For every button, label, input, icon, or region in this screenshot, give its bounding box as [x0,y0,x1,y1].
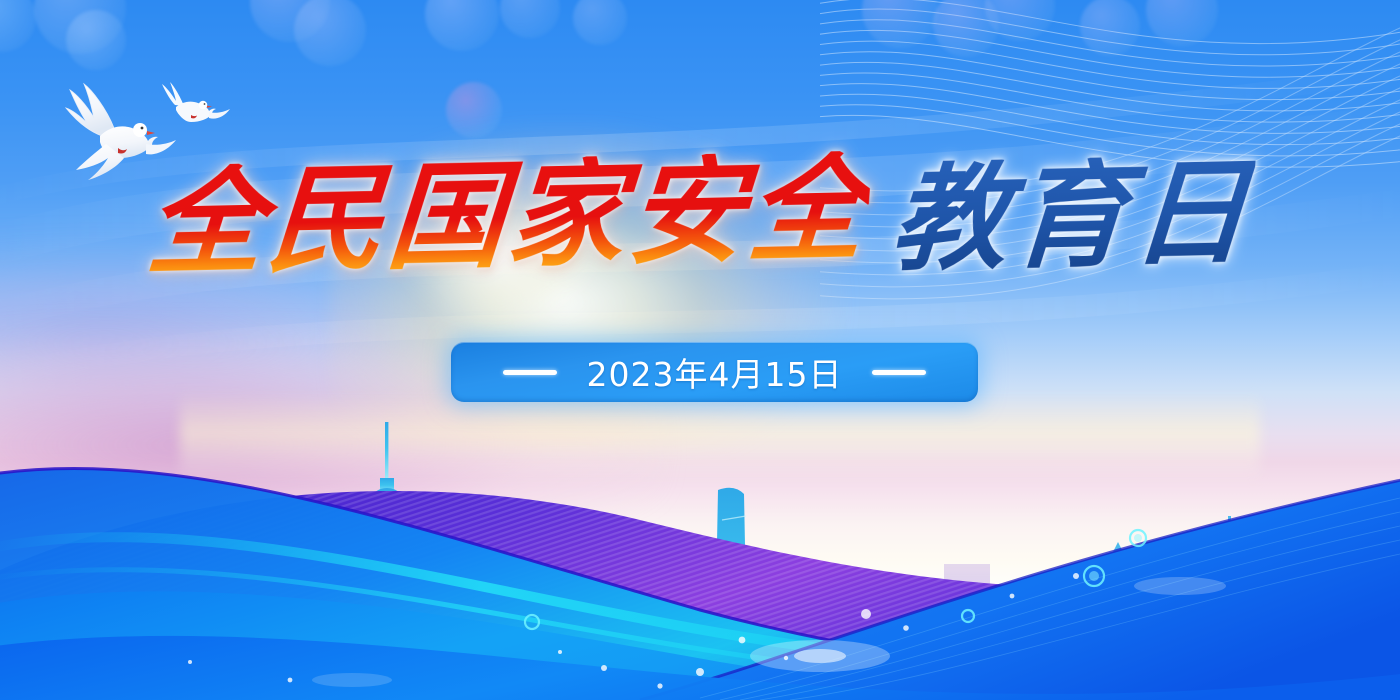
title-red-text: 全民国家安全 [144,150,873,281]
title-blue-text: 教育日 [888,154,1256,278]
dove-small-icon [158,80,232,132]
poster-canvas: 全民国家安全教育日 2023年4月15日 [0,0,1400,700]
dash-left-icon [503,370,557,375]
bubble-particles [0,400,1400,700]
poster-title: 全民国家安全教育日 [0,158,1400,328]
dash-right-icon [872,370,926,375]
